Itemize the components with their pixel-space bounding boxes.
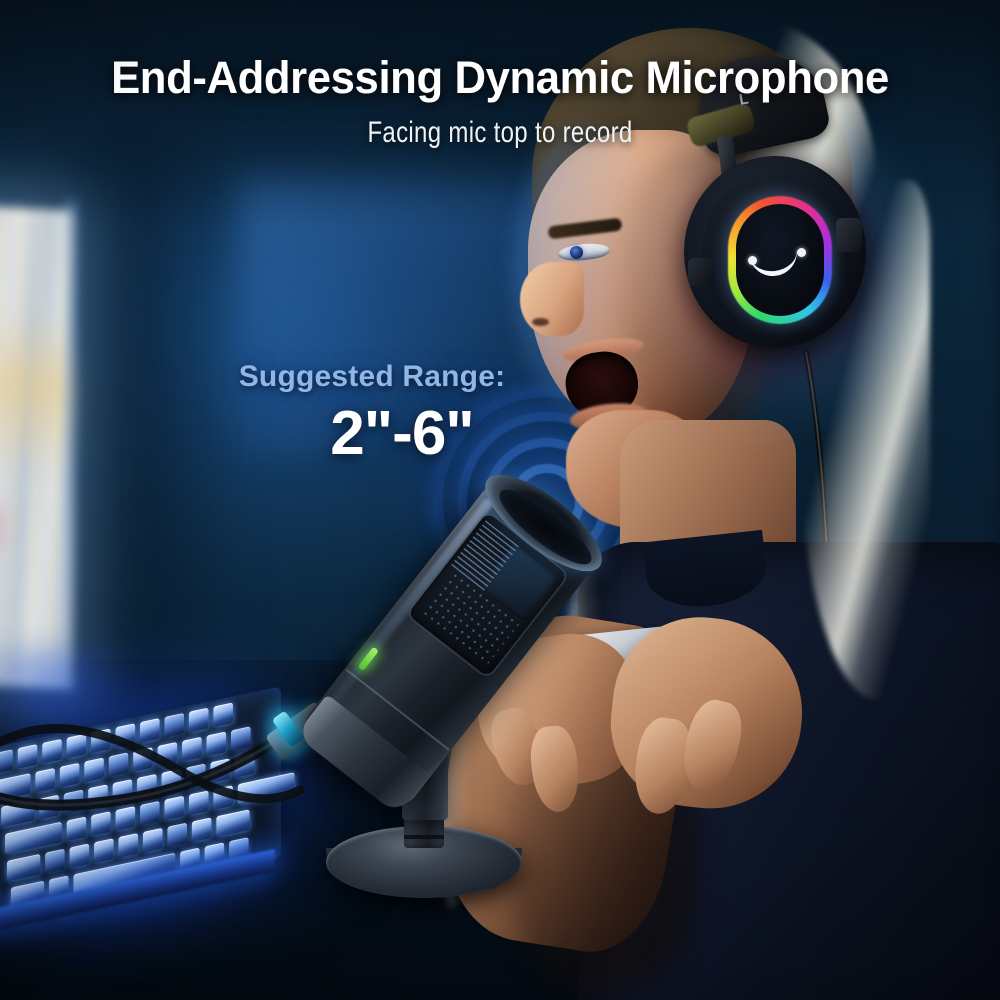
vignette-overlay [0, 0, 1000, 1000]
product-marketing-image: L End-Addressing Dynamic Microphone Faci… [0, 0, 1000, 1000]
